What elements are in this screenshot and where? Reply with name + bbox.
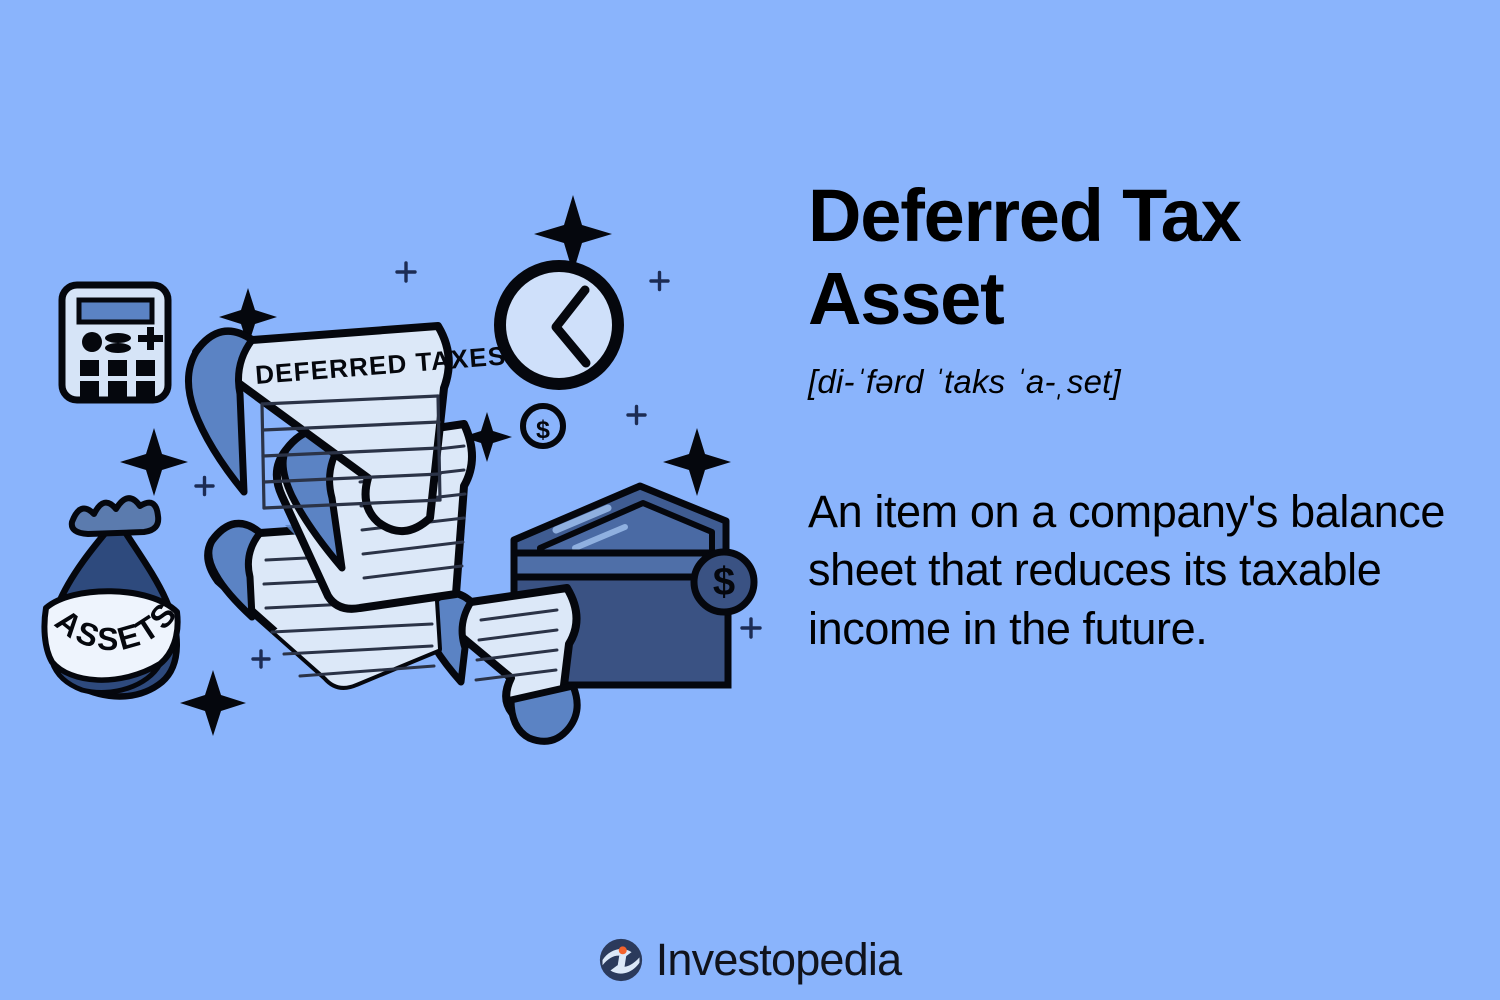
wallet-badge-symbol: $ [713,560,735,604]
definition-text: An item on a company's balance sheet tha… [808,483,1468,659]
sparkle-icon [120,428,188,496]
brand-footer: Investopedia [0,937,1500,982]
plus-icon [397,263,415,281]
investopedia-logo-icon [599,938,643,982]
plus-icon [628,407,645,424]
coin-symbol: $ [536,416,550,444]
illustration: ASSETS $ [0,0,800,900]
brand-wordmark: Investopedia [656,937,902,982]
pronunciation: [di-ˈfərd ˈtaks ˈa-ˌset] [808,363,1468,401]
clock-icon [500,266,618,384]
money-bag-icon: ASSETS [44,498,185,696]
plus-icon [742,619,760,637]
sparkle-icon [180,670,246,736]
scroll-sheet-lower-right [426,588,577,741]
text-panel: Deferred Tax Asset [di-ˈfərd ˈtaks ˈa-ˌs… [808,175,1468,658]
deferred-taxes-scroll-icon: DEFERRED TAXES [188,326,577,741]
plus-icon [196,478,213,495]
illustration-svg: ASSETS $ [0,0,800,900]
calculator-icon [62,285,168,400]
definition-card: ASSETS $ [0,0,1500,1000]
sparkle-icon [534,195,612,273]
term-title: Deferred Tax Asset [808,175,1348,341]
coin-icon: $ [523,406,563,446]
plus-icon [253,651,269,667]
sparkle-icon [663,428,731,496]
plus-icon [651,273,668,290]
